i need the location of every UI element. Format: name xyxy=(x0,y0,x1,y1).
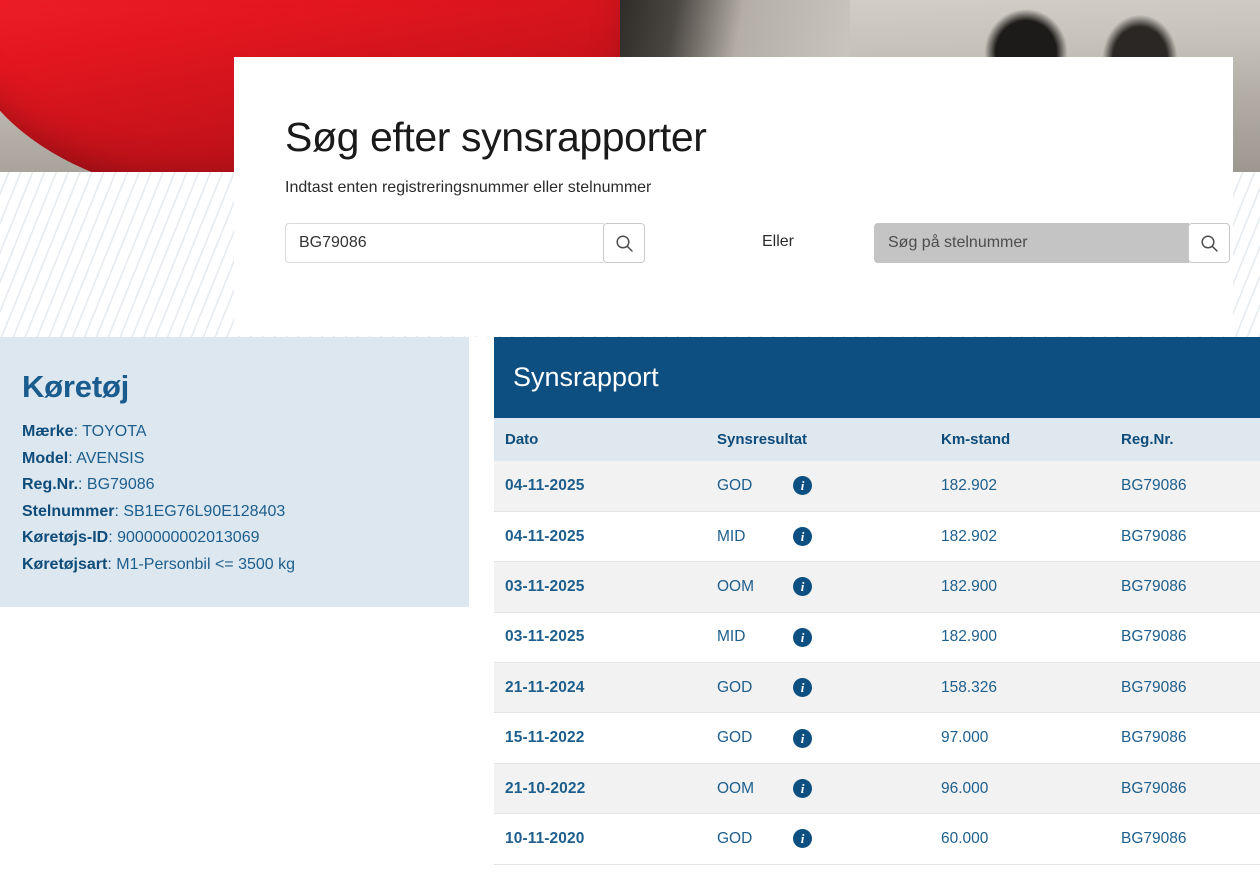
cell-km-stand: 97.000 xyxy=(930,713,1110,763)
vehicle-field-value: AVENSIS xyxy=(76,450,144,467)
vehicle-field: Køretøjsart: M1-Personbil <= 3500 kg xyxy=(22,552,469,579)
result-wrapper: MIDi xyxy=(717,628,930,647)
cell-synsresultat: GODi xyxy=(706,663,930,713)
reg-number-input[interactable] xyxy=(285,223,604,263)
result-code: GOD xyxy=(717,729,793,747)
result-code: GOD xyxy=(717,679,793,697)
cell-dato: 21-10-2022 xyxy=(494,763,706,813)
column-header-dato[interactable]: Dato xyxy=(494,418,706,461)
cell-synsresultat: GODi xyxy=(706,814,930,864)
result-wrapper: GODi xyxy=(717,729,930,748)
page-title: Søg efter synsrapporter xyxy=(285,114,706,161)
table-row[interactable]: 21-11-2024GODi158.326BG79086 xyxy=(494,663,1260,713)
info-circle-icon[interactable]: i xyxy=(793,476,812,495)
table-row[interactable]: 10-11-2020GODi60.000BG79086 xyxy=(494,814,1260,864)
table-row[interactable]: 03-11-2025MIDi182.900BG79086 xyxy=(494,612,1260,662)
cell-dato: 15-11-2022 xyxy=(494,713,706,763)
cell-km-stand: 60.000 xyxy=(930,814,1110,864)
vehicle-field-value: TOYOTA xyxy=(82,423,146,440)
vehicle-field-key: Køretøjs-ID xyxy=(22,529,108,546)
vehicle-field: Mærke: TOYOTA xyxy=(22,419,469,446)
column-header-reg-nr[interactable]: Reg.Nr. xyxy=(1110,418,1260,461)
cell-dato: 03-11-2025 xyxy=(494,562,706,612)
result-code: GOD xyxy=(717,477,793,495)
result-code: MID xyxy=(717,528,793,546)
result-code: GOD xyxy=(717,830,793,848)
vehicle-info-panel: Køretøj Mærke: TOYOTA Model: AVENSIS Reg… xyxy=(0,337,469,607)
cell-dato: 04-11-2025 xyxy=(494,511,706,561)
vehicle-field: Model: AVENSIS xyxy=(22,446,469,473)
table-row[interactable]: 15-11-2022GODi97.000BG79086 xyxy=(494,713,1260,763)
cell-synsresultat: GODi xyxy=(706,461,930,511)
result-wrapper: GODi xyxy=(717,829,930,848)
cell-synsresultat: OOMi xyxy=(706,562,930,612)
table-head: Dato Synsresultat Km-stand Reg.Nr. xyxy=(494,418,1260,461)
cell-dato: 10-11-2020 xyxy=(494,814,706,864)
cell-reg-nr: BG79086 xyxy=(1110,663,1260,713)
search-icon xyxy=(1200,234,1219,253)
cell-dato: 03-11-2025 xyxy=(494,612,706,662)
info-circle-icon[interactable]: i xyxy=(793,628,812,647)
vehicle-field: Stelnummer: SB1EG76L90E128403 xyxy=(22,499,469,526)
vehicle-panel-title: Køretøj xyxy=(22,369,469,405)
inspection-report-section: Synsrapport Dato Synsresultat Km-stand R… xyxy=(494,337,1260,865)
vehicle-field-key: Køretøjsart xyxy=(22,556,107,573)
search-icon xyxy=(615,234,634,253)
vehicle-field-key: Mærke xyxy=(22,423,74,440)
info-circle-icon[interactable]: i xyxy=(793,729,812,748)
vehicle-field: Køretøjs-ID: 9000000002013069 xyxy=(22,525,469,552)
or-label: Eller xyxy=(762,233,794,251)
cell-km-stand: 182.902 xyxy=(930,461,1110,511)
result-code: MID xyxy=(717,628,793,646)
table-body: 04-11-2025GODi182.902BG7908604-11-2025MI… xyxy=(494,461,1260,864)
cell-synsresultat: OOMi xyxy=(706,763,930,813)
vehicle-field-value: SB1EG76L90E128403 xyxy=(123,503,285,520)
table-header-row: Dato Synsresultat Km-stand Reg.Nr. xyxy=(494,418,1260,461)
result-wrapper: MIDi xyxy=(717,527,930,546)
cell-km-stand: 182.902 xyxy=(930,511,1110,561)
result-code: OOM xyxy=(717,578,793,596)
cell-dato: 21-11-2024 xyxy=(494,663,706,713)
vehicle-field-key: Stelnummer xyxy=(22,503,114,520)
table-row[interactable]: 04-11-2025GODi182.902BG79086 xyxy=(494,461,1260,511)
page-subtitle: Indtast enten registreringsnummer eller … xyxy=(285,179,651,197)
column-header-synsresultat[interactable]: Synsresultat xyxy=(706,418,930,461)
search-row: Eller xyxy=(285,223,1205,267)
vehicle-field-value: BG79086 xyxy=(87,476,155,493)
result-wrapper: GODi xyxy=(717,476,930,495)
vin-search-group xyxy=(874,223,1230,263)
cell-reg-nr: BG79086 xyxy=(1110,461,1260,511)
info-circle-icon[interactable]: i xyxy=(793,527,812,546)
report-header-bar: Synsrapport xyxy=(494,337,1260,418)
cell-synsresultat: GODi xyxy=(706,713,930,763)
info-circle-icon[interactable]: i xyxy=(793,779,812,798)
vehicle-field-value: 9000000002013069 xyxy=(117,529,259,546)
reg-search-group xyxy=(285,223,645,263)
cell-km-stand: 96.000 xyxy=(930,763,1110,813)
info-circle-icon[interactable]: i xyxy=(793,577,812,596)
column-header-km-stand[interactable]: Km-stand xyxy=(930,418,1110,461)
cell-reg-nr: BG79086 xyxy=(1110,511,1260,561)
cell-km-stand: 182.900 xyxy=(930,562,1110,612)
vehicle-field-key: Model xyxy=(22,450,68,467)
cell-synsresultat: MIDi xyxy=(706,511,930,561)
result-wrapper: GODi xyxy=(717,678,930,697)
cell-dato: 04-11-2025 xyxy=(494,461,706,511)
cell-reg-nr: BG79086 xyxy=(1110,713,1260,763)
inspection-report-table: Dato Synsresultat Km-stand Reg.Nr. 04-11… xyxy=(494,418,1260,865)
vehicle-field-key: Reg.Nr. xyxy=(22,476,78,493)
vin-search-button[interactable] xyxy=(1188,223,1230,263)
vehicle-field: Reg.Nr.: BG79086 xyxy=(22,472,469,499)
vehicle-field-value: M1-Personbil <= 3500 kg xyxy=(116,556,295,573)
search-card: Søg efter synsrapporter Indtast enten re… xyxy=(234,57,1233,336)
report-title: Synsrapport xyxy=(513,362,659,393)
reg-search-button[interactable] xyxy=(603,223,645,263)
vin-number-input[interactable] xyxy=(874,223,1189,263)
cell-km-stand: 158.326 xyxy=(930,663,1110,713)
info-circle-icon[interactable]: i xyxy=(793,829,812,848)
cell-reg-nr: BG79086 xyxy=(1110,562,1260,612)
info-circle-icon[interactable]: i xyxy=(793,678,812,697)
cell-reg-nr: BG79086 xyxy=(1110,612,1260,662)
vehicle-field-list: Mærke: TOYOTA Model: AVENSIS Reg.Nr.: BG… xyxy=(22,419,469,578)
result-wrapper: OOMi xyxy=(717,779,930,798)
table-row[interactable]: 04-11-2025MIDi182.902BG79086 xyxy=(494,511,1260,561)
table-row[interactable]: 21-10-2022OOMi96.000BG79086 xyxy=(494,763,1260,813)
result-wrapper: OOMi xyxy=(717,577,930,596)
cell-reg-nr: BG79086 xyxy=(1110,763,1260,813)
cell-synsresultat: MIDi xyxy=(706,612,930,662)
cell-reg-nr: BG79086 xyxy=(1110,814,1260,864)
result-code: OOM xyxy=(717,780,793,798)
table-row[interactable]: 03-11-2025OOMi182.900BG79086 xyxy=(494,562,1260,612)
cell-km-stand: 182.900 xyxy=(930,612,1110,662)
